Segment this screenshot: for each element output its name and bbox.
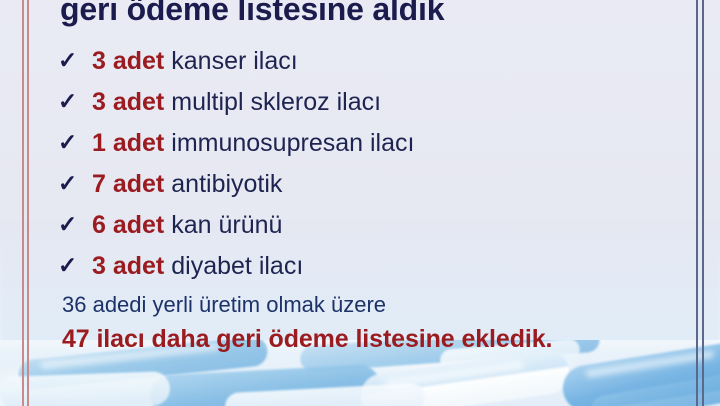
list-item-quantity: 3 adet: [92, 82, 164, 123]
check-icon: ✓: [58, 163, 92, 204]
list-item: ✓ 1 adet immunosupresan ilacı: [58, 123, 414, 164]
list-item: ✓ 3 adet kanser ilacı: [58, 41, 414, 82]
list-item-label: diyabet ilacı: [171, 246, 303, 287]
list-item-label: multipl skleroz ilacı: [171, 82, 381, 123]
list-item-quantity: 3 adet: [92, 41, 164, 82]
list-item-label: immunosupresan ilacı: [171, 123, 414, 164]
list-item: ✓ 3 adet diyabet ilacı: [58, 246, 414, 287]
summary-highlight: 47 ilacı daha geri ödeme listesine ekled…: [62, 322, 552, 356]
check-icon: ✓: [58, 81, 92, 122]
check-icon: ✓: [58, 245, 92, 286]
list-item: ✓ 6 adet kan ürünü: [58, 205, 414, 246]
poster-content: geri ödeme listesine aldık ✓ 3 adet kans…: [0, 0, 720, 406]
drug-category-list: ✓ 3 adet kanser ilacı ✓ 3 adet multipl s…: [58, 41, 414, 287]
list-item-label: kanser ilacı: [171, 41, 297, 82]
list-item-quantity: 3 adet: [92, 246, 164, 287]
list-item-quantity: 6 adet: [92, 205, 164, 246]
list-item-quantity: 1 adet: [92, 123, 164, 164]
list-item: ✓ 3 adet multipl skleroz ilacı: [58, 82, 414, 123]
poster-graphic: geri ödeme listesine aldık ✓ 3 adet kans…: [0, 0, 720, 406]
list-item-label: antibiyotik: [171, 164, 282, 205]
list-item: ✓ 7 adet antibiyotik: [58, 164, 414, 205]
check-icon: ✓: [58, 40, 92, 81]
list-item-quantity: 7 adet: [92, 164, 164, 205]
check-icon: ✓: [58, 122, 92, 163]
check-icon: ✓: [58, 204, 92, 245]
summary-note: 36 adedi yerli üretim olmak üzere: [62, 290, 386, 320]
list-item-label: kan ürünü: [171, 205, 282, 246]
page-title: geri ödeme listesine aldık: [60, 0, 444, 28]
